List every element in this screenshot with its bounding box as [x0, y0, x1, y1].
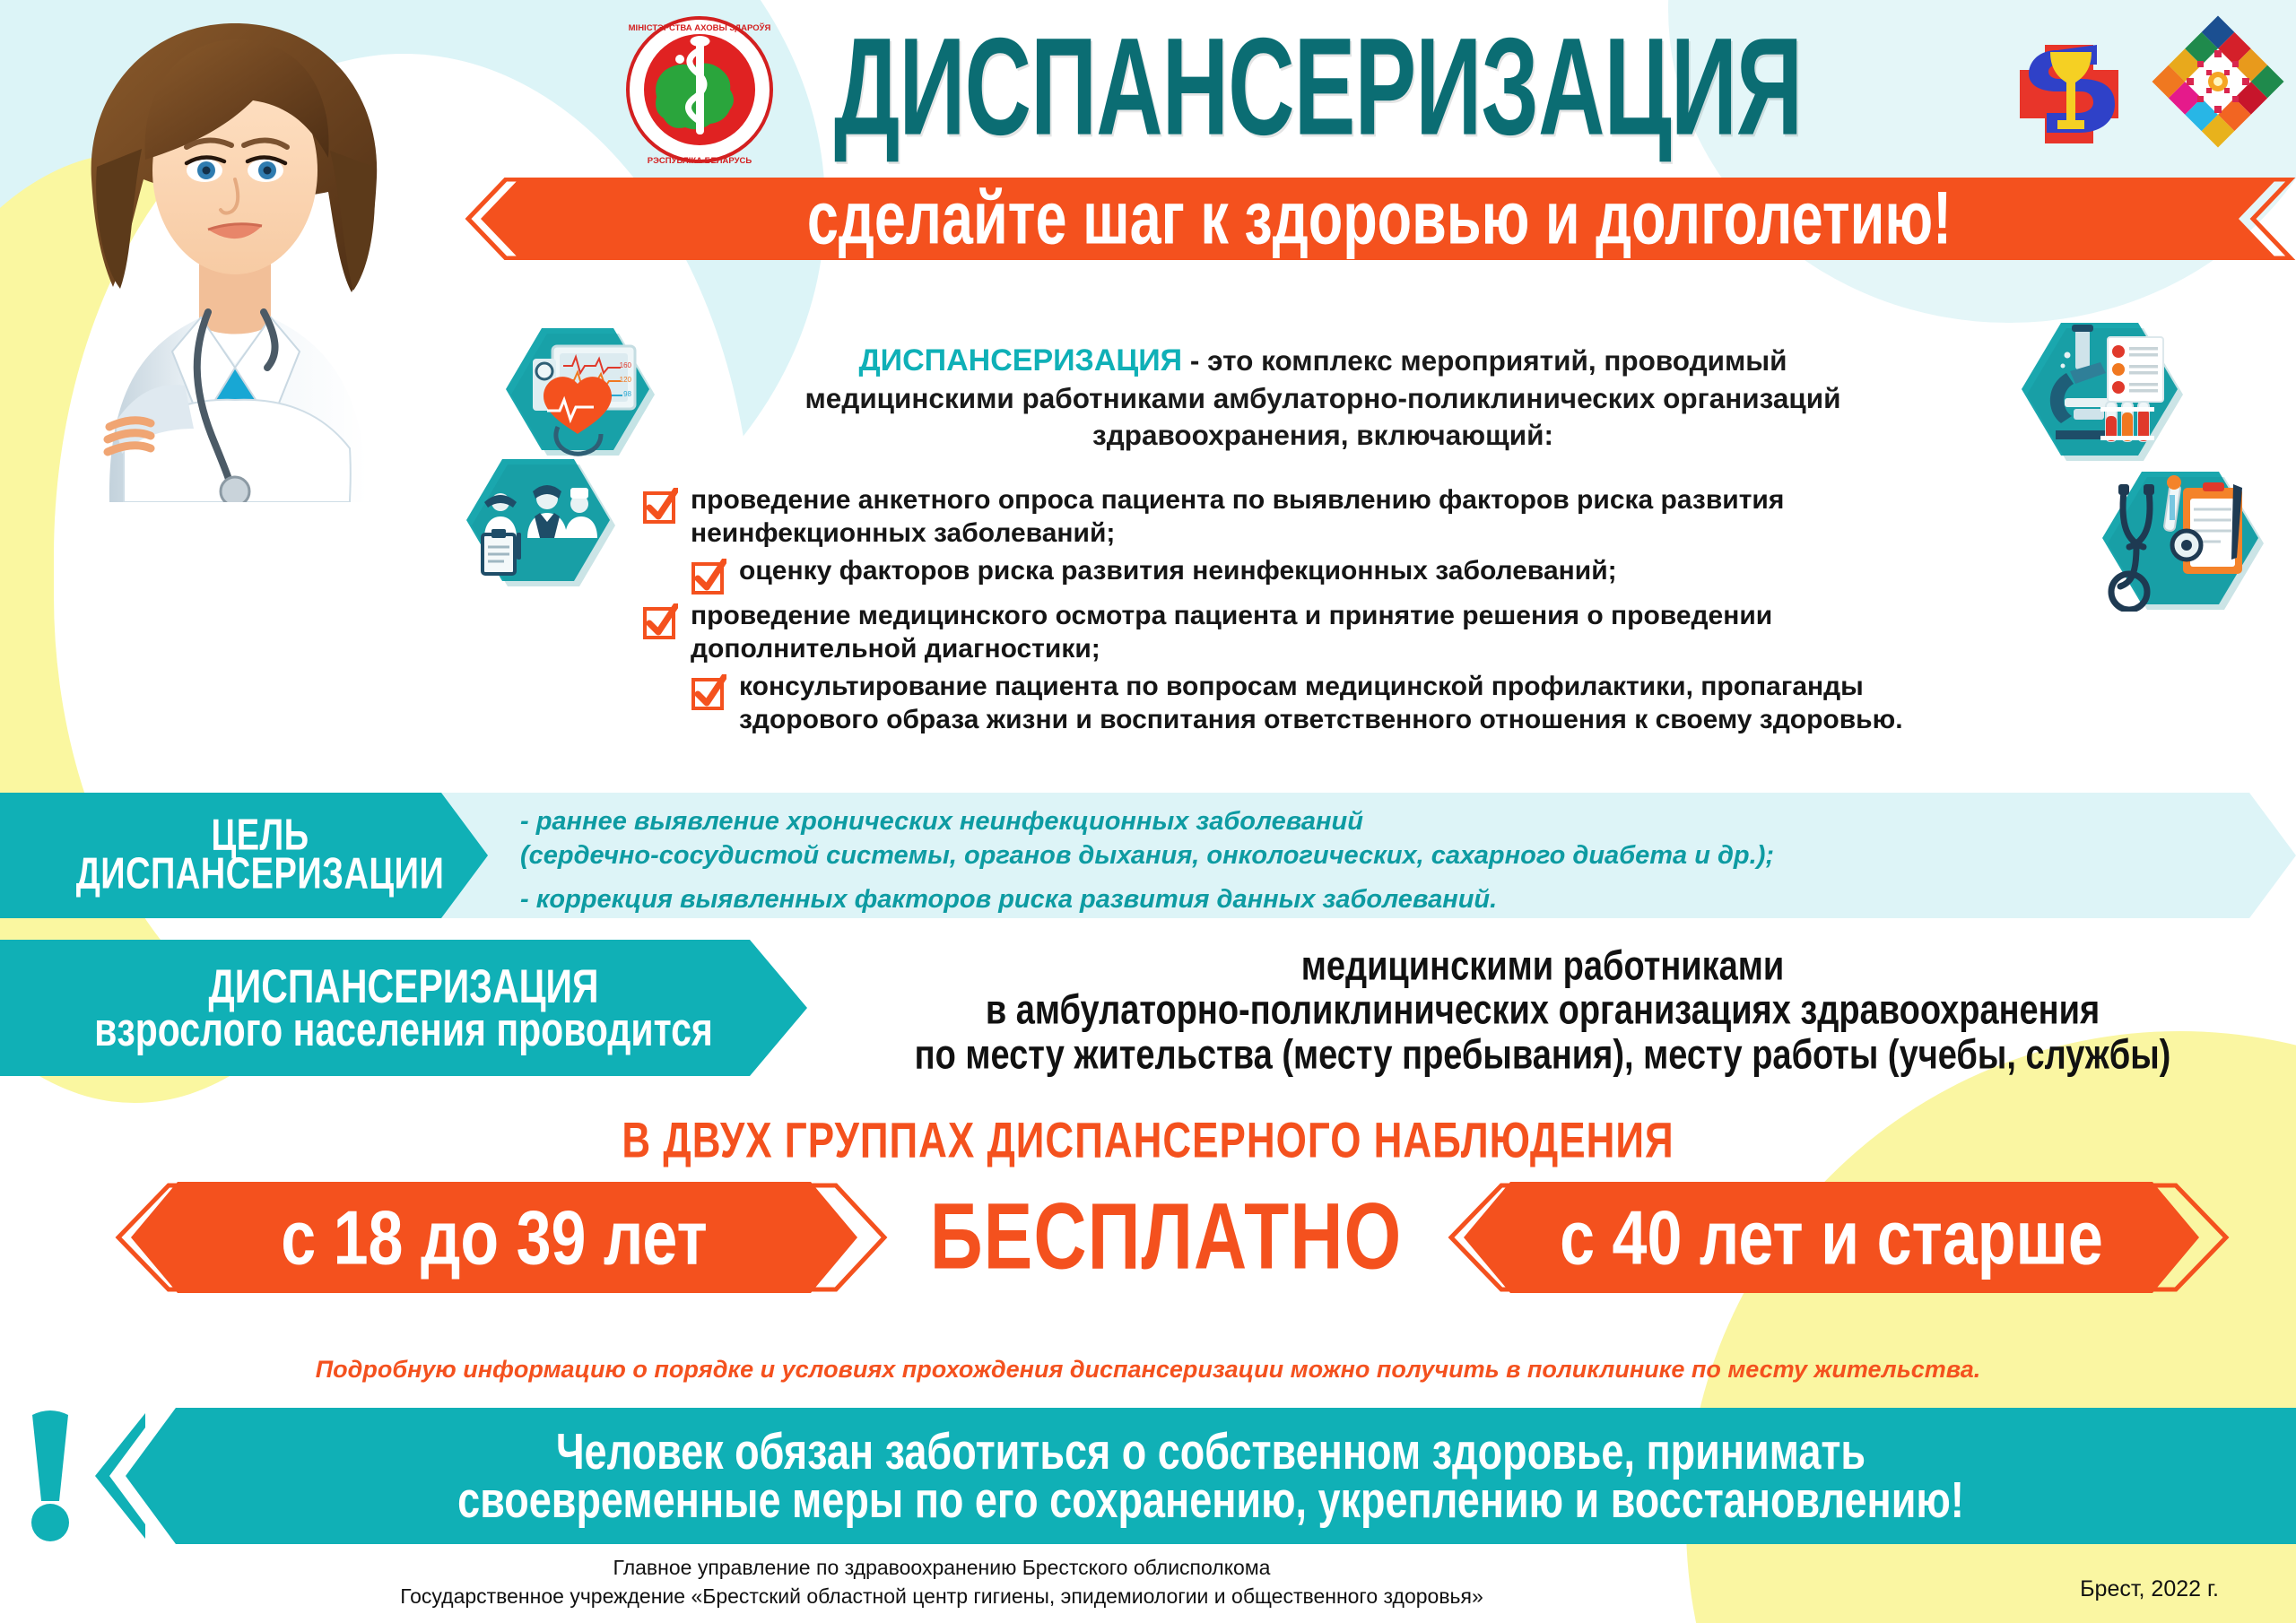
intro-line2: медицинскими работниками амбулаторно-пол… [682, 380, 1964, 417]
free-label: БЕСПЛАТНО [888, 1178, 1444, 1297]
checkbox-checked-icon [691, 559, 726, 595]
intro-line3: здравоохранения, включающий: [682, 417, 1964, 454]
who-label-line2: взрослого населения проводится [94, 1002, 713, 1057]
footer-city-year: Брест, 2022 г. [2080, 1576, 2219, 1602]
list-item-line: неинфекционных заболеваний; [691, 517, 1784, 551]
age-group-right: с 40 лет и старше [1464, 1182, 2199, 1293]
poster-title-text: ДИСПАНСЕРИЗАЦИЯ [834, 6, 1802, 166]
list-item-text: проведение медицинского осмотра пациента… [691, 600, 1772, 665]
list-item: проведение медицинского осмотра пациента… [642, 600, 2095, 665]
age-group-right-text: с 40 лет и старше [1560, 1193, 2103, 1281]
slogan-banner: сделайте шаг к здоровью и долголетию! [481, 178, 2278, 260]
svg-text:98: 98 [623, 390, 631, 398]
goal-label: ЦЕЛЬ ДИСПАНСЕРИЗАЦИИ [0, 793, 520, 918]
list-item-text: проведение анкетного опроса пациента по … [691, 484, 1784, 550]
groups-heading-text: В ДВУХ ГРУППАХ ДИСПАНСЕРНОГО НАБЛЮДЕНИЯ [622, 1114, 1674, 1170]
who-text-line3: по месту жительства (месту пребывания), … [807, 1028, 2278, 1082]
list-item-line: дополнительной диагностики; [691, 633, 1772, 666]
age-group-left: с 18 до 39 лет [131, 1182, 857, 1293]
microscope-testtubes-icon [2022, 323, 2183, 461]
emblem-bottom-text: РЭСПУБЛІКА БЕЛАРУСЬ [648, 156, 752, 166]
checkbox-checked-icon [691, 674, 726, 710]
final-banner-line2: своевременные меры по его сохранению, ук… [457, 1470, 1964, 1531]
goal-label-line2: ДИСПАНСЕРИЗАЦИИ [76, 850, 445, 899]
who-label: ДИСПАНСЕРИЗАЦИЯ взрослого населения пров… [0, 940, 807, 1076]
list-item-text: консультирование пациента по вопросам ме… [739, 671, 1903, 736]
stethoscope-clipboard-thermometer-icon [2102, 472, 2264, 610]
groups-heading: В ДВУХ ГРУППАХ ДИСПАНСЕРНОГО НАБЛЮДЕНИЯ [0, 1119, 2296, 1164]
goal-item1-line2: (сердечно-сосудистой системы, органов ды… [520, 839, 2296, 873]
final-banner-chevron [90, 1408, 197, 1544]
female-doctor-illustration [9, 0, 475, 502]
intro-paragraph: ДИСПАНСЕРИЗАЦИЯ - это комплекс мероприят… [682, 341, 1964, 454]
pharmacy-bowl-cross-logo [2002, 18, 2136, 152]
who-section: ДИСПАНСЕРИЗАЦИЯ взрослого населения пров… [0, 940, 2296, 1076]
goal-panel: - раннее выявление хронических неинфекци… [441, 793, 2296, 918]
age-group-left-text: с 18 до 39 лет [281, 1193, 707, 1281]
list-item: проведение анкетного опроса пациента по … [642, 484, 2095, 550]
ecg-monitor-heart-icon: 160 120 98 [506, 328, 655, 456]
ministry-emblem: МІНІСТЭРСТВА АХОВЫ ЗДАРОЎЯ РЭСПУБЛІКА БЕ… [621, 11, 778, 169]
final-banner: Человек обязан заботиться о собственном … [126, 1408, 2296, 1544]
list-item: консультирование пациента по вопросам ме… [642, 671, 2095, 736]
emblem-top-text: МІНІСТЭРСТВА АХОВЫ ЗДАРОЎЯ [629, 22, 771, 33]
footer: Главное управление по здравоохранению Бр… [0, 1553, 1883, 1610]
goal-section: ЦЕЛЬ ДИСПАНСЕРИЗАЦИИ - раннее выявление … [0, 793, 2296, 918]
exclamation-mark-icon [16, 1408, 84, 1542]
goal-item2: - коррекция выявленных факторов риска ра… [520, 883, 2296, 917]
free-label-text: БЕСПЛАТНО [930, 1184, 1403, 1291]
goal-item1-line1: - раннее выявление хронических неинфекци… [520, 805, 2296, 839]
intro-highlight: ДИСПАНСЕРИЗАЦИЯ [858, 343, 1182, 378]
slogan-text: сделайте шаг к здоровью и долголетию! [807, 176, 1952, 261]
list-item-line: оценку факторов риска развития неинфекци… [739, 555, 1617, 588]
info-note: Подробную информацию о порядке и условия… [0, 1356, 2296, 1384]
footer-line1: Главное управление по здравоохранению Бр… [0, 1553, 1883, 1582]
intro-line1-rest: - это комплекс мероприятий, проводимый [1182, 344, 1787, 377]
svg-text:160: 160 [620, 361, 632, 369]
list-item-line: проведение медицинского осмотра пациента… [691, 600, 1772, 633]
poster-root: МІНІСТЭРСТВА АХОВЫ ЗДАРОЎЯ РЭСПУБЛІКА БЕ… [0, 0, 2296, 1623]
checkbox-checked-icon [642, 603, 678, 639]
footer-line2: Государственное учреждение «Брестский об… [0, 1582, 1883, 1610]
medical-staff-group-icon [466, 459, 615, 586]
list-item-line: проведение анкетного опроса пациента по … [691, 484, 1784, 517]
list-item-line: здорового образа жизни и воспитания отве… [739, 704, 1903, 737]
checklist: проведение анкетного опроса пациента по … [642, 484, 2095, 742]
list-item-text: оценку факторов риска развития неинфекци… [739, 555, 1617, 588]
who-text: медицинскими работниками в амбулаторно-п… [807, 945, 2278, 1078]
list-item-line: консультирование пациента по вопросам ме… [739, 671, 1903, 704]
checkbox-checked-icon [642, 488, 678, 524]
list-item: оценку факторов риска развития неинфекци… [642, 555, 2095, 595]
belarus-ornament-diamond-logo [2151, 14, 2283, 147]
svg-text:120: 120 [620, 376, 632, 384]
poster-title: ДИСПАНСЕРИЗАЦИЯ [682, 14, 1955, 158]
